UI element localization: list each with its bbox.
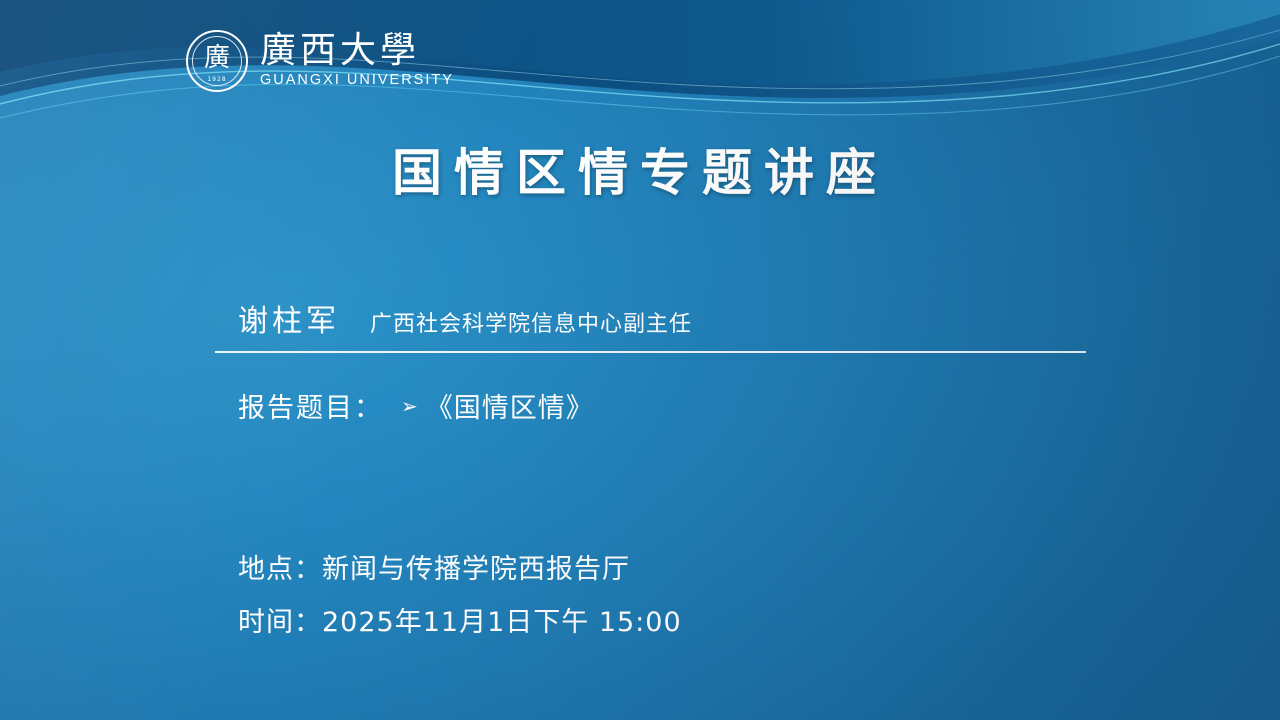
event-time: 时间：2025年11月1日下午 15:00 bbox=[238, 609, 682, 636]
event-details: 地点：新闻与传播学院西报告厅 时间：2025年11月1日下午 15:00 bbox=[238, 556, 682, 636]
presentation-slide: 廣 1928 廣西大學 GUANGXI UNIVERSITY 国情区情专题讲座 … bbox=[0, 0, 1280, 720]
page-title: 国情区情专题讲座 bbox=[0, 133, 1280, 205]
speaker-affiliation: 广西社会科学院信息中心副主任 bbox=[370, 306, 692, 338]
university-wordmark: 廣西大學 GUANGXI UNIVERSITY bbox=[260, 32, 454, 91]
university-name-en: GUANGXI UNIVERSITY bbox=[260, 71, 454, 90]
arrow-bullet-icon: ➢ bbox=[401, 394, 418, 418]
horizontal-divider bbox=[215, 351, 1086, 353]
event-location: 地点：新闻与传播学院西报告厅 bbox=[238, 556, 682, 583]
topic-label: 报告题目： bbox=[238, 386, 383, 425]
topic-info: 报告题目： ➢ 《国情区情》 bbox=[238, 386, 594, 425]
speaker-info: 谢柱军 广西社会科学院信息中心副主任 bbox=[238, 296, 692, 340]
university-name-cn: 廣西大學 bbox=[260, 32, 454, 70]
university-seal-icon: 廣 1928 bbox=[186, 30, 248, 92]
university-logo: 廣 1928 廣西大學 GUANGXI UNIVERSITY bbox=[186, 20, 456, 102]
seal-year: 1928 bbox=[188, 76, 246, 83]
topic-text: 《国情区情》 bbox=[426, 386, 594, 425]
speaker-name: 谢柱军 bbox=[238, 296, 340, 340]
